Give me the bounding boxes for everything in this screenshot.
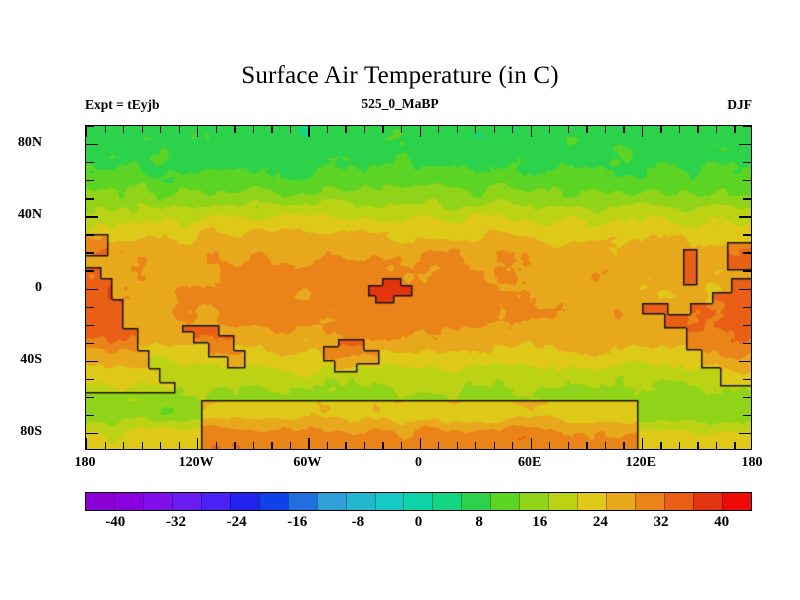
colorbar-cell-3 (172, 493, 201, 510)
x-axis-label-60W: 60W (293, 455, 321, 471)
colorbar-cell-15 (519, 493, 548, 510)
y-tick (86, 252, 94, 253)
y-tick (743, 198, 751, 199)
colorbar-tick--40: -40 (105, 514, 125, 531)
x-tick (586, 442, 587, 449)
y-axis-label-40N: 40N (18, 207, 42, 223)
x-tick (568, 126, 569, 133)
y-axis-label-80S: 80S (20, 424, 42, 440)
colorbar-tick--24: -24 (227, 514, 247, 531)
x-tick (457, 442, 458, 449)
x-tick (623, 442, 624, 449)
colorbar-tick-32: 32 (654, 514, 669, 531)
map-plot-area (85, 125, 752, 450)
y-tick (743, 307, 751, 308)
colorbar-tick-40: 40 (714, 514, 729, 531)
colorbar-tick-8: 8 (475, 514, 483, 531)
x-tick (549, 442, 550, 449)
colorbar (85, 492, 752, 511)
x-tick (457, 126, 458, 133)
x-tick (549, 126, 550, 133)
x-tick (123, 442, 124, 449)
x-tick (568, 442, 569, 449)
x-tick (290, 126, 291, 133)
x-tick (123, 126, 124, 133)
y-axis-label-80N: 80N (18, 135, 42, 151)
colorbar-cell-11 (403, 493, 432, 510)
x-tick (179, 442, 180, 449)
y-tick (86, 325, 94, 326)
x-tick (660, 442, 661, 449)
x-tick (105, 442, 106, 449)
colorbar-cell-6 (259, 493, 288, 510)
x-tick (271, 442, 272, 449)
x-tick (679, 126, 680, 133)
chart-title: Surface Air Temperature (in C) (0, 62, 800, 90)
colorbar-cell-1 (114, 493, 143, 510)
y-tick (743, 397, 751, 398)
colorbar-cell-22 (722, 493, 751, 510)
x-tick (623, 126, 624, 133)
y-tick (743, 325, 751, 326)
x-tick (216, 442, 217, 449)
x-tick (420, 126, 421, 137)
colorbar-cell-2 (143, 493, 172, 510)
y-tick (739, 361, 751, 362)
y-tick (86, 379, 94, 380)
x-axis-label-180: 180 (75, 455, 96, 471)
y-tick (739, 433, 751, 434)
y-tick (743, 162, 751, 163)
x-tick (716, 442, 717, 449)
colorbar-cell-0 (86, 493, 114, 510)
y-tick (743, 415, 751, 416)
colorbar-cell-7 (288, 493, 317, 510)
x-tick (197, 126, 198, 137)
x-tick (494, 126, 495, 133)
y-tick (86, 270, 94, 271)
x-tick (86, 438, 87, 449)
x-tick (364, 126, 365, 133)
x-tick (105, 126, 106, 133)
x-tick (253, 126, 254, 133)
x-tick (197, 438, 198, 449)
x-tick (160, 442, 161, 449)
colorbar-cell-10 (375, 493, 404, 510)
y-tick (86, 361, 98, 362)
y-tick (86, 180, 94, 181)
colorbar-cell-8 (317, 493, 346, 510)
y-tick (86, 216, 98, 217)
y-tick (86, 144, 98, 145)
colorbar-tick--8: -8 (352, 514, 365, 531)
colorbar-cell-21 (693, 493, 722, 510)
x-tick (438, 126, 439, 133)
colorbar-cell-16 (548, 493, 577, 510)
y-tick (743, 180, 751, 181)
colorbar-cell-4 (201, 493, 230, 510)
y-tick (86, 162, 94, 163)
colorbar-cell-12 (432, 493, 461, 510)
y-tick (86, 126, 94, 127)
season-label: DJF (727, 97, 752, 113)
y-axis-label-40S: 40S (20, 352, 42, 368)
colorbar-cell-20 (664, 493, 693, 510)
colorbar-cell-17 (577, 493, 606, 510)
x-tick (494, 442, 495, 449)
colorbar-cell-14 (490, 493, 519, 510)
temperature-heatmap (86, 126, 752, 450)
y-tick (743, 252, 751, 253)
x-tick (308, 126, 309, 137)
x-tick (142, 442, 143, 449)
x-tick (327, 126, 328, 133)
x-tick (382, 126, 383, 133)
y-tick (743, 343, 751, 344)
x-tick (679, 442, 680, 449)
y-tick (86, 397, 94, 398)
x-tick (605, 126, 606, 133)
y-tick (743, 379, 751, 380)
x-tick (660, 126, 661, 133)
x-tick (234, 126, 235, 133)
x-tick (531, 126, 532, 137)
y-tick (739, 289, 751, 290)
x-tick (253, 442, 254, 449)
x-tick (86, 126, 87, 137)
y-tick (86, 415, 94, 416)
colorbar-tick--16: -16 (287, 514, 307, 531)
x-tick (734, 442, 735, 449)
x-tick (160, 126, 161, 133)
y-tick (739, 216, 751, 217)
x-tick (401, 126, 402, 133)
colorbar-cell-18 (606, 493, 635, 510)
x-axis-label-120E: 120E (626, 455, 656, 471)
y-tick (743, 270, 751, 271)
x-axis-label-180: 180 (742, 455, 763, 471)
x-tick (308, 438, 309, 449)
x-tick (586, 126, 587, 133)
colorbar-cell-5 (230, 493, 259, 510)
y-tick (743, 126, 751, 127)
experiment-label: Expt = tEyjb (85, 97, 159, 113)
x-tick (475, 126, 476, 133)
x-tick (642, 126, 643, 137)
x-tick (142, 126, 143, 133)
x-tick (179, 126, 180, 133)
x-tick (438, 442, 439, 449)
x-tick (401, 442, 402, 449)
y-tick (739, 144, 751, 145)
y-tick (86, 289, 98, 290)
x-tick (382, 442, 383, 449)
x-tick (345, 126, 346, 133)
x-tick (216, 126, 217, 133)
x-tick (642, 438, 643, 449)
y-tick (86, 198, 94, 199)
x-tick (364, 442, 365, 449)
y-tick (86, 433, 98, 434)
x-tick (327, 442, 328, 449)
y-tick (86, 307, 94, 308)
x-tick (697, 442, 698, 449)
colorbar-tick-24: 24 (593, 514, 608, 531)
x-tick (734, 126, 735, 133)
x-axis-label-60E: 60E (518, 455, 541, 471)
y-tick (86, 234, 94, 235)
x-tick (475, 442, 476, 449)
y-axis-label-0: 0 (35, 280, 42, 296)
colorbar-tick--32: -32 (166, 514, 186, 531)
y-tick (86, 343, 94, 344)
colorbar-cell-19 (635, 493, 664, 510)
x-tick (605, 442, 606, 449)
colorbar-cell-13 (461, 493, 490, 510)
x-tick (345, 442, 346, 449)
x-tick (271, 126, 272, 133)
colorbar-tick-16: 16 (532, 514, 547, 531)
x-tick (420, 438, 421, 449)
x-tick (697, 126, 698, 133)
colorbar-tick-0: 0 (415, 514, 423, 531)
y-tick (743, 234, 751, 235)
x-tick (512, 442, 513, 449)
x-tick (531, 438, 532, 449)
x-tick (234, 442, 235, 449)
x-tick (290, 442, 291, 449)
x-axis-label-120W: 120W (179, 455, 214, 471)
colorbar-cell-9 (346, 493, 375, 510)
x-tick (716, 126, 717, 133)
x-axis-label-0: 0 (415, 455, 422, 471)
x-tick (512, 126, 513, 133)
